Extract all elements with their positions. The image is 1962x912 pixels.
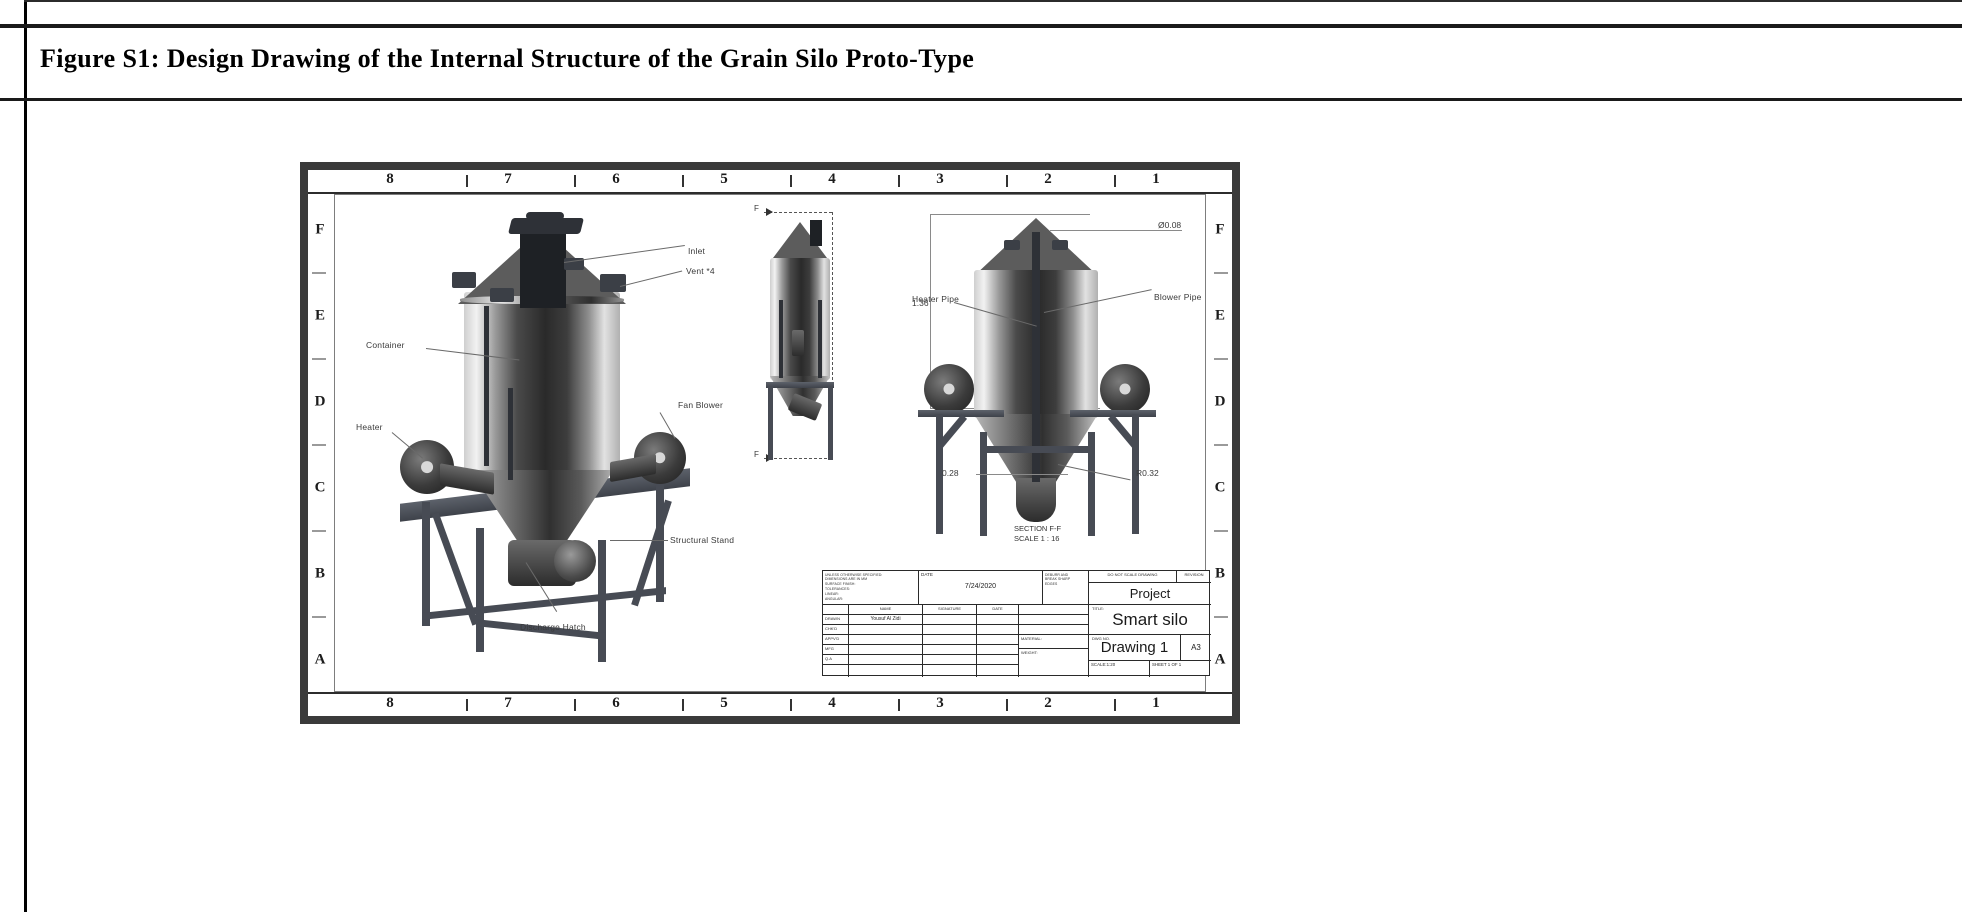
zone-left-A: A	[315, 652, 326, 669]
tb-material-cell: MATERIAL:	[1019, 635, 1089, 649]
zone-top-7: 7	[504, 171, 512, 188]
page-left-border	[24, 0, 27, 912]
tb-sig-row-label-5	[823, 665, 849, 677]
elev-inlet	[810, 220, 822, 246]
section-ff-view: 1.36 Ø0.08	[908, 196, 1208, 556]
tb-sig-row-label-3: MFG	[823, 645, 849, 655]
leader-vent	[620, 271, 682, 287]
tb-sig-row-sig-2	[923, 635, 977, 645]
section-fan-hub	[1120, 384, 1131, 395]
elev-internal-pipe-left	[779, 300, 783, 378]
zone-top-1: 1	[1152, 171, 1160, 188]
tb-sheet-label: SHEET 1 OF 1	[1150, 661, 1211, 668]
zone-left-C: C	[315, 480, 326, 497]
tb-sig-role-1: CHK'D	[823, 625, 848, 632]
tb-sig-row-label-0: DRAWN	[823, 615, 849, 625]
dim-width-value: 0.28	[942, 468, 959, 478]
zone-top-3: 3	[936, 171, 944, 188]
zone-left-D: D	[315, 394, 326, 411]
tb-sig-drawn-name: Yousuf Al Zidi	[849, 615, 922, 623]
caption-top-divider	[0, 24, 1962, 28]
tb-sig-row-date-3	[977, 645, 1019, 655]
elev-stand-top	[766, 382, 834, 388]
tb-scale-label: SCALE:1:20	[1089, 661, 1149, 668]
tb-sig-head-date: DATE	[977, 605, 1019, 615]
zone-right-D: D	[1215, 394, 1226, 411]
tb-sig-row-extra-0	[1019, 615, 1089, 625]
tb-name-cell: TITLE: Smart silo	[1089, 605, 1211, 635]
inlet-handle	[526, 212, 564, 220]
tb-sig-head-signature: SIGNATURE	[923, 605, 977, 615]
tb-deburr-cell: DEBURR AND BREAK SHARP EDGES	[1043, 571, 1089, 605]
zone-top-4: 4	[828, 171, 836, 188]
page-top-border	[24, 0, 1962, 2]
tb-tolerance-cell: UNLESS OTHERWISE SPECIFIED: DIMENSIONS A…	[823, 571, 919, 605]
internal-pipe-left	[484, 306, 489, 466]
tb-sig-row-sig-4	[923, 655, 977, 665]
zone-ruler-right: F E D C B A	[1208, 192, 1232, 694]
callout-inlet: Inlet	[688, 246, 705, 256]
tb-sig-head-blank	[823, 605, 849, 615]
tb-sig-row-extra-1	[1019, 625, 1089, 635]
tb-drawing-cell: DWG NO. Drawing 1	[1089, 635, 1181, 661]
tb-sig-row-date-0	[977, 615, 1019, 625]
zone-right-C: C	[1215, 480, 1226, 497]
section-vent-left	[1004, 240, 1020, 250]
tb-revision-cell: REVISION	[1177, 571, 1211, 583]
zone-bottom-7: 7	[504, 695, 512, 712]
zone-top-2: 2	[1044, 171, 1052, 188]
section-heater-blower	[924, 364, 974, 414]
tb-sig-role-0: DRAWN	[823, 615, 848, 622]
dim-diameter-line	[1050, 230, 1182, 231]
tb-date-label: DATE	[919, 571, 1042, 578]
zone-bottom-1: 1	[1152, 695, 1160, 712]
tb-sig-date-header: DATE	[977, 605, 1018, 612]
tb-sig-row-name-5	[849, 665, 923, 677]
zone-bottom-3: 3	[936, 695, 944, 712]
zone-bottom-8: 8	[386, 695, 394, 712]
tb-project-label: Project	[1089, 583, 1211, 604]
leader-inlet	[564, 245, 685, 263]
zone-top-6: 6	[612, 171, 620, 188]
section-cut-line-bottom	[764, 458, 832, 459]
dim-diameter-value: Ø0.08	[1158, 220, 1181, 230]
callout-fan-blower: Fan Blower	[678, 400, 723, 410]
tb-sig-signature-header: SIGNATURE	[923, 605, 976, 612]
tb-material-label: MATERIAL:	[1019, 635, 1088, 642]
dim-height-ext-top	[930, 214, 1090, 215]
tb-sig-row-sig-0	[923, 615, 977, 625]
zone-right-E: E	[1215, 308, 1225, 325]
tb-dwgno-label: DWG NO.	[1090, 635, 1112, 642]
tb-sig-row-sig-5	[923, 665, 977, 677]
tb-sig-row-name-1	[849, 625, 923, 635]
tb-sig-role-2: APPV'D	[823, 635, 848, 642]
section-heater-hub	[944, 384, 955, 395]
zone-right-F: F	[1215, 222, 1224, 239]
cad-drawing-sheet: 8 7 6 5 4 3 2 1 8 7 6 5 4 3	[300, 162, 1240, 724]
caption-bottom-divider	[0, 98, 1962, 101]
stand-leg-back-left	[476, 528, 484, 652]
tb-size-value: A3	[1181, 635, 1211, 660]
section-discharge-neck	[1016, 478, 1056, 522]
tb-project-name: Smart silo	[1089, 605, 1211, 634]
callout-heater-pipe: Heater Pipe	[912, 294, 959, 304]
zone-ruler-left: F E D C B A	[308, 192, 332, 694]
callout-heater: Heater	[356, 422, 383, 432]
tb-sig-row-sig-1	[923, 625, 977, 635]
elev-stand-leg-right	[828, 386, 833, 460]
discharge-hatch-valve	[554, 540, 596, 582]
leader-structural-stand	[610, 540, 668, 541]
tb-date-cell: DATE 7/24/2020	[919, 571, 1043, 605]
tb-sig-row-sig-3	[923, 645, 977, 655]
internal-pipe-right	[508, 388, 513, 480]
callout-blower-pipe: Blower Pipe	[1154, 292, 1202, 302]
vent-right	[600, 274, 626, 292]
zone-right-A: A	[1215, 652, 1226, 669]
section-fan-blower	[1100, 364, 1150, 414]
tb-title-label: TITLE:	[1090, 605, 1106, 612]
tb-sheet-cell: SHEET 1 OF 1	[1150, 661, 1211, 677]
zone-top-8: 8	[386, 171, 394, 188]
tb-weight-cell: WEIGHT:	[1019, 649, 1089, 677]
vent-center	[490, 288, 514, 302]
tb-size-cell: A3	[1181, 635, 1211, 661]
tb-revision-label: REVISION	[1177, 571, 1211, 578]
tb-tolerance-note: UNLESS OTHERWISE SPECIFIED: DIMENSIONS A…	[823, 571, 918, 604]
inlet-cap	[508, 218, 584, 234]
elev-stand-leg-left	[768, 386, 773, 460]
section-note: SECTION F-F SCALE 1 : 16	[1014, 524, 1061, 544]
tb-sig-head-extra	[1019, 605, 1089, 615]
zone-ruler-bottom: 8 7 6 5 4 3 2 1	[308, 692, 1232, 716]
tb-scale-cell: SCALE:1:20	[1089, 661, 1150, 677]
elev-discharge	[792, 330, 804, 356]
tb-sig-row-name-4	[849, 655, 923, 665]
dim-radius-value: R0.32	[1136, 468, 1159, 478]
section-stand-crossbeam	[980, 446, 1095, 453]
section-mark-top: F	[754, 204, 759, 213]
section-mark-bottom: F	[754, 450, 759, 459]
tb-sig-role-3: MFG	[823, 645, 848, 652]
heater-hub	[421, 461, 433, 473]
tb-sig-head-name: NAME	[849, 605, 923, 615]
cad-sheet-inner: 8 7 6 5 4 3 2 1 8 7 6 5 4 3	[308, 170, 1232, 716]
section-center-pipe	[1032, 232, 1040, 482]
zone-left-F: F	[315, 222, 324, 239]
tb-project-cell: Project	[1089, 583, 1211, 605]
elev-internal-pipe-right	[818, 300, 822, 378]
section-vent-right	[1052, 240, 1068, 250]
figure-caption: Figure S1: Design Drawing of the Interna…	[40, 44, 1740, 74]
zone-top-5: 5	[720, 171, 728, 188]
title-block: UNLESS OTHERWISE SPECIFIED: DIMENSIONS A…	[822, 570, 1210, 676]
tb-deburr-note: DEBURR AND BREAK SHARP EDGES	[1043, 571, 1088, 589]
zone-bottom-6: 6	[612, 695, 620, 712]
zone-ruler-top: 8 7 6 5 4 3 2 1	[308, 170, 1232, 194]
zone-right-B: B	[1215, 566, 1225, 583]
section-cut-line-top	[764, 212, 832, 213]
document-page: Figure S1: Design Drawing of the Interna…	[0, 0, 1962, 912]
callout-discharge-hatch: Discharge Hatch	[520, 622, 586, 632]
tb-donotscale-label: DO NOT SCALE DRAWING	[1089, 571, 1176, 578]
vent-left	[452, 272, 476, 288]
tb-weight-label: WEIGHT:	[1019, 649, 1088, 656]
tb-sig-row-name-2	[849, 635, 923, 645]
tb-donotscale-cell: DO NOT SCALE DRAWING	[1089, 571, 1177, 583]
tb-date-value: 7/24/2020	[919, 583, 1042, 590]
tb-sig-row-date-2	[977, 635, 1019, 645]
tb-sig-row-date-1	[977, 625, 1019, 635]
tb-sig-row-name-0: Yousuf Al Zidi	[849, 615, 923, 625]
tb-sig-row-date-5	[977, 665, 1019, 677]
tb-sig-row-label-2: APPV'D	[823, 635, 849, 645]
dim-width-line	[976, 474, 1068, 475]
tb-sig-row-label-1: CHK'D	[823, 625, 849, 635]
stand-leg-front-left	[422, 502, 430, 626]
zone-bottom-5: 5	[720, 695, 728, 712]
tb-sig-row-label-4: Q.A	[823, 655, 849, 665]
isometric-view: Inlet Vent *4 Container Fan Blower Heate…	[348, 210, 768, 670]
callout-vent: Vent *4	[686, 266, 715, 276]
tb-sig-role-4: Q.A	[823, 655, 848, 662]
zone-left-E: E	[315, 308, 325, 325]
zone-left-B: B	[315, 566, 325, 583]
inlet-chute	[520, 228, 566, 308]
zone-bottom-4: 4	[828, 695, 836, 712]
zone-bottom-2: 2	[1044, 695, 1052, 712]
callout-container: Container	[366, 340, 405, 350]
tb-sig-row-name-3	[849, 645, 923, 655]
callout-structural-stand: Structural Stand	[670, 535, 734, 545]
front-elevation-view: F F	[748, 200, 878, 490]
tb-sig-name-header: NAME	[849, 605, 922, 612]
tb-sig-row-date-4	[977, 655, 1019, 665]
